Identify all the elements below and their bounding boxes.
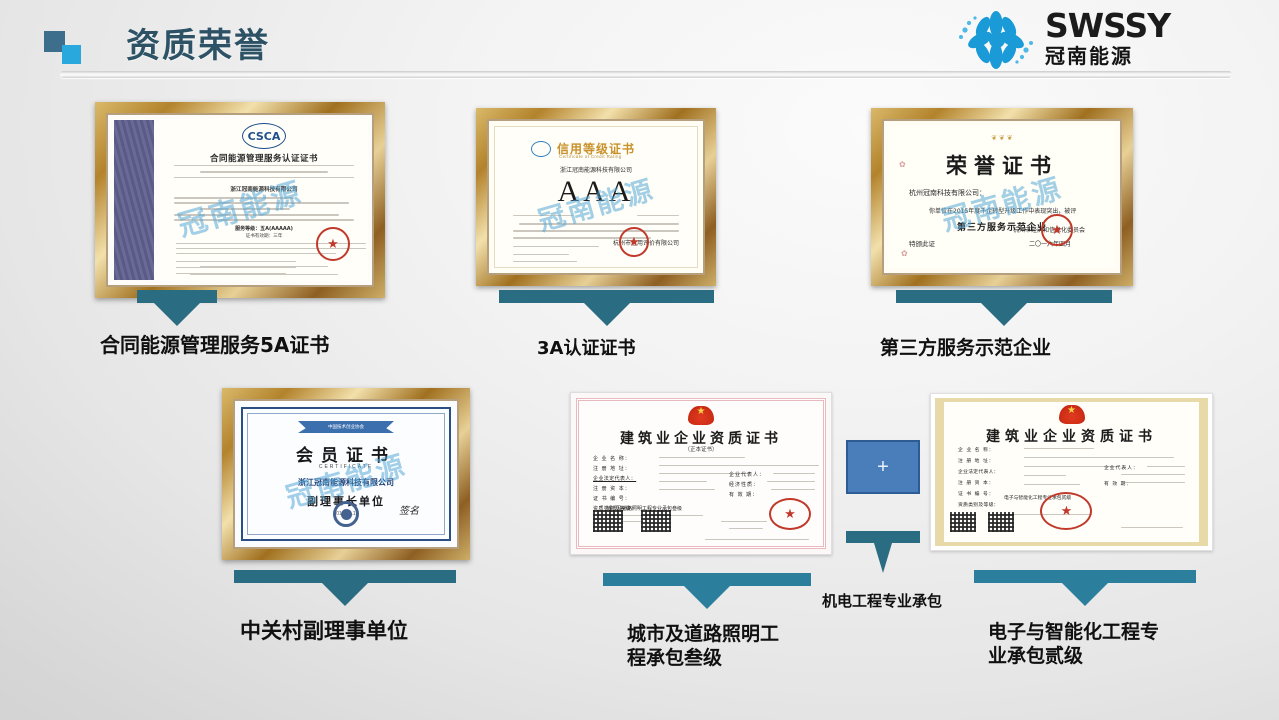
national-emblem-icon [688, 406, 714, 425]
certificate-seal [1041, 214, 1073, 246]
caption-arrow-honor [896, 290, 1112, 326]
certificate-subtitle: （正本证书） [579, 445, 823, 453]
field-label: 企业法定代表人： [593, 475, 657, 482]
certificate-frame: 信用等级证书 Certificate of Credit Rating 浙江冠南… [476, 108, 716, 286]
field-label: 企业法定代表人： [958, 468, 1022, 475]
caption-arrow-construction-2 [974, 570, 1196, 606]
certificate-card-construction-2[interactable]: 建筑业企业资质证书 企 业 名 称： 注 册 地 址： 企业法定代表人： 注 册… [930, 393, 1213, 551]
certificate-title-en: Certificate of Credit Rating [559, 154, 622, 159]
certificate-card-5a[interactable]: CSCA 合同能源管理服务认证证书 浙江冠南能源科技有限公司 服务等级：五A(A… [95, 102, 385, 298]
certificate-card-member[interactable]: 中国技术创业协会 会员证书 CERTIFICATE 浙江冠南能源科技有限公司 副… [222, 388, 470, 560]
floral-ornament-icon: ✿ [899, 160, 906, 169]
brand-text: SWSSY 冠南能源 [1045, 9, 1170, 66]
caption-construction-1: 城市及道路照明工 程承包叁级 [627, 622, 779, 671]
qr-code [641, 510, 671, 532]
certificate-card-construction-1[interactable]: 建筑业企业资质证书 （正本证书） 企 业 名 称： 注 册 地 址： 企业法定代… [570, 392, 832, 555]
certificate-note: 特颁此证 [909, 238, 935, 248]
ornament-icon: ❦ ❦ ❦ [889, 134, 1115, 142]
certificate-org: 浙江冠南能源科技有限公司 [160, 185, 368, 193]
certificate-frame: 中国技术创业协会 会员证书 CERTIFICATE 浙江冠南能源科技有限公司 副… [222, 388, 470, 560]
page-title: 资质荣誉 [126, 18, 270, 67]
certificate-seal [769, 498, 811, 530]
caption-arrow-3a [499, 290, 714, 326]
caption-member: 中关村副理事单位 [240, 618, 408, 645]
field-label: 企 业 名 称： [958, 446, 1022, 453]
certificate-frame: ❦ ❦ ❦ 荣誉证书 杭州冠南科技有限公司： 你单位在2015年度千企转型升级工… [871, 108, 1133, 286]
caption-middle: 机电工程专业承包 [822, 592, 942, 611]
add-button[interactable]: + [846, 440, 920, 494]
field-label: 注 册 资 本： [593, 485, 657, 492]
csca-logo-icon: CSCA [242, 123, 286, 149]
credit-logo-icon [531, 141, 551, 157]
certificate-card-honor[interactable]: ❦ ❦ ❦ 荣誉证书 杭州冠南科技有限公司： 你单位在2015年度千企转型升级工… [871, 108, 1133, 286]
national-emblem-icon [1059, 405, 1085, 424]
caption-construction-2: 电子与智能化工程专 业承包贰级 [988, 620, 1159, 669]
certificate-seal [1040, 492, 1092, 530]
brand-subname: 冠南能源 [1045, 46, 1170, 66]
field-label: 经济性质： [729, 481, 785, 488]
certificate-title: 建筑业企业资质证书 [944, 426, 1199, 446]
floral-ornament-icon: ✿ [901, 249, 908, 258]
decorative-square-cyan [62, 45, 81, 64]
certificate-org: 浙江冠南能源科技有限公司 [243, 477, 449, 488]
field-label: 注 册 地 址： [593, 465, 657, 472]
certificate-seal [619, 227, 649, 257]
caption-5a: 合同能源管理服务5A证书 [100, 333, 329, 359]
certificate-title: 合同能源管理服务认证证书 [160, 152, 368, 164]
certificate-org: 浙江冠南能源科技有限公司 [495, 165, 697, 174]
field-label: 注 册 地 址： [958, 457, 1022, 464]
caption-3a: 3A认证证书 [537, 337, 635, 360]
certificate-frame: CSCA 合同能源管理服务认证证书 浙江冠南能源科技有限公司 服务等级：五A(A… [95, 102, 385, 298]
certificate-ribbon: 中国技术创业协会 [298, 421, 394, 433]
certificate-title-en: CERTIFICATE [243, 464, 449, 470]
field-label: 注 册 资 本： [958, 479, 1022, 486]
caption-arrow-construction-1 [603, 573, 811, 609]
certificate-purple-band [114, 120, 154, 280]
caption-arrow-5a [137, 290, 217, 326]
field-label: 企 业 名 称： [593, 455, 657, 462]
certificate-title: 会员证书 [243, 441, 449, 466]
signature: 签名 [399, 502, 419, 517]
slide-header: 资质荣誉 SWSSY 冠南能源 [0, 0, 1279, 96]
qr-code [988, 512, 1014, 532]
field-label: 有 效 期： [729, 491, 785, 498]
qr-code [593, 510, 623, 532]
brand-logo: SWSSY 冠南能源 [953, 7, 1253, 73]
medal-icon [333, 501, 359, 527]
qr-code [950, 512, 976, 532]
certificate-grade: AAA [495, 175, 697, 209]
field-label: 资质类别及等级： [958, 501, 1022, 508]
caption-arrow-member [234, 570, 456, 606]
certificate-seal [316, 227, 350, 261]
field-label: 证 书 编 号： [593, 495, 657, 502]
brand-name: SWSSY [1045, 9, 1170, 42]
plus-icon: + [877, 457, 889, 477]
certificate-org: 杭州冠南科技有限公司： [909, 188, 986, 198]
certificate-title: 荣誉证书 [889, 150, 1115, 180]
caption-honor: 第三方服务示范企业 [880, 336, 1051, 360]
caption-arrow-middle [846, 531, 920, 573]
water-droplet-radial-logo-icon [953, 9, 1039, 71]
certificate-body: 你单位在2015年度千企转型升级工作中表现突出，被评 [929, 206, 1101, 215]
certificate-card-3a[interactable]: 信用等级证书 Certificate of Credit Rating 浙江冠南… [476, 108, 716, 286]
